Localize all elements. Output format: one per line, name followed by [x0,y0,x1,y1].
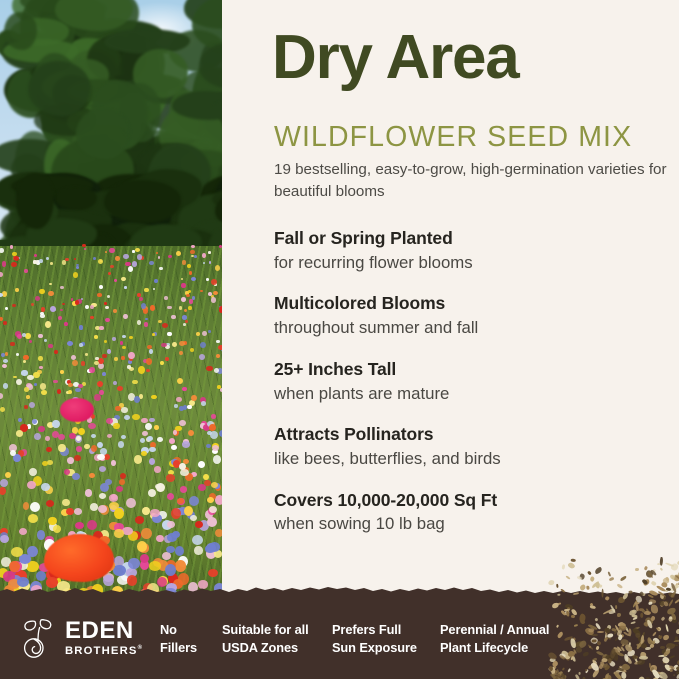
flower-bloom [113,423,119,430]
flower-bloom [194,546,202,555]
flower-bloom [214,368,219,373]
feature-subtext: when plants are mature [274,382,674,405]
flower-bloom [211,279,216,285]
feature-subtext: throughout summer and fall [274,316,674,339]
flower-bloom [76,266,79,269]
flower-bloom [104,302,107,304]
flower-bloom [120,341,124,345]
foliage-blob [76,108,130,159]
flower-bloom [121,435,126,439]
content-panel: Dry Area WILDFLOWER SEED MIX 19 bestsell… [222,0,679,614]
flower-bloom [28,514,38,523]
flower-bloom [192,296,195,299]
feature-heading: 25+ Inches Tall [274,358,674,381]
flower-bloom [147,345,152,349]
flower-bloom [72,473,80,480]
flower-bloom [160,361,164,365]
flower-bloom [3,321,7,325]
footer-content: EDEN BROTHERS® No Fillers Suitable for a… [0,595,679,679]
flower-bloom [144,288,149,293]
flower-bloom [156,483,165,492]
flower-bloom [89,367,94,373]
flower-bloom [94,361,99,365]
flower-bloom [99,326,103,330]
flower-bloom [126,498,136,508]
flower-bloom [17,334,22,339]
flower-bloom [64,469,70,475]
flower-bloom [113,309,117,312]
flower-bloom [149,261,154,265]
flower-bloom [159,267,163,271]
flower-bloom [50,262,53,265]
flower-bloom [75,522,84,529]
flower-bloom [58,434,64,440]
flower-bloom [195,521,203,528]
flower-bloom [166,474,175,482]
flower-bloom [179,463,186,470]
flower-bloom [121,356,124,360]
flower-bloom [179,306,182,309]
flower-bloom [23,502,30,510]
foliage-blob [4,12,37,50]
flower-bloom [216,340,219,343]
flower-bloom [115,406,120,411]
flower-bloom [105,251,107,253]
flower-bloom [45,321,51,328]
flower-bloom [123,314,128,319]
flower-bloom [88,423,96,429]
flower-bloom [142,507,149,515]
flower-bloom [99,493,106,499]
flower-bloom [76,446,83,452]
flower-bloom [114,508,124,519]
flower-bloom [11,547,23,557]
badge-sun-exposure: Prefers Full Sun Exposure [332,621,440,657]
flower-bloom [16,430,23,436]
feature-subtext: when sowing 10 lb bag [274,512,674,535]
flower-bloom [175,546,184,556]
foliage-blob [16,173,54,228]
flower-bloom [132,414,139,420]
flower-bloom [128,558,139,569]
flower-bloom [151,395,156,399]
flower-bloom [173,430,178,435]
flower-bloom [167,332,171,336]
product-subtitle: WILDFLOWER SEED MIX [274,123,632,152]
flower-bloom [97,454,104,460]
foreground-poppy [44,534,114,582]
flower-bloom [12,304,16,307]
flower-bloom [94,335,99,339]
flower-bloom [134,455,142,463]
feature-heading: Covers 10,000-20,000 Sq Ft [274,489,674,512]
feature-subtext: for recurring flower blooms [274,251,674,274]
flower-bloom [58,444,65,452]
flower-bloom [11,262,17,267]
flower-bloom [206,278,209,281]
flower-bloom [209,424,216,431]
flower-bloom [67,457,74,464]
tree-canopy [0,0,222,285]
flower-bloom [115,256,119,261]
flower-bloom [203,262,205,264]
flower-bloom [165,564,176,577]
flower-bloom [74,508,82,515]
flower-bloom [213,455,221,464]
flower-bloom [75,388,81,393]
flower-bloom [184,309,187,312]
flower-bloom [44,339,48,342]
flower-bloom [15,288,19,292]
flower-bloom [23,360,26,363]
flower-bloom [107,295,110,298]
flower-bloom [29,340,32,343]
flower-bloom [3,383,9,389]
flower-bloom [112,337,116,340]
flower-bloom [157,437,163,442]
flower-bloom [192,535,202,545]
flower-bloom [154,425,159,429]
flower-bloom [108,272,111,275]
flower-bloom [41,483,50,491]
flower-bloom [168,255,172,258]
flower-bloom [114,279,117,282]
flower-bloom [199,354,205,360]
flower-bloom [93,257,96,260]
flower-bloom [215,529,222,537]
flower-bloom [213,291,218,295]
flower-bloom [211,297,216,302]
flower-bloom [137,293,141,297]
flower-bloom [30,502,40,512]
flower-bloom [24,269,28,272]
badge-line1: No [160,622,177,637]
flower-bloom [149,458,155,465]
logo-eden-text: EDEN [65,619,143,643]
feature-heading: Attracts Pollinators [274,423,674,446]
flower-bloom [99,390,103,395]
flower-bloom [128,360,132,364]
flower-bloom [27,481,36,489]
flower-bloom [154,279,158,283]
flower-bloom [16,353,20,356]
flower-bloom [39,259,43,263]
flower-bloom [198,484,207,491]
flower-bloom [187,264,191,268]
flower-bloom [171,508,181,519]
flower-bloom [85,353,89,356]
flower-bloom [186,294,190,297]
flower-bloom [39,366,42,369]
flower-bloom [25,333,30,339]
flower-bloom [37,530,45,539]
badge-plant-lifecycle: Perennial / Annual Plant Lifecycle [440,621,580,657]
flower-bloom [128,266,133,272]
flower-bloom [182,387,186,391]
badge-line2: Sun Exposure [332,639,440,657]
flower-bloom [206,366,212,372]
flower-bloom [209,542,221,552]
flower-bloom [141,451,147,457]
flower-bloom [29,402,36,408]
flower-bloom [90,305,94,309]
flower-bloom [97,293,101,297]
flower-bloom [62,499,69,506]
flower-bloom [154,466,161,472]
flower-bloom [106,418,113,424]
flower-bloom [124,286,127,288]
flower-bloom [149,447,155,452]
flower-bloom [2,261,7,266]
flower-bloom [132,261,137,266]
flower-bloom [102,372,106,376]
flower-bloom [41,390,47,395]
flower-bloom [140,438,145,443]
badge-line1: Suitable for all [222,622,309,637]
feature-item: Covers 10,000-20,000 Sq Ft when sowing 1… [274,489,674,536]
flower-bloom [29,468,37,477]
flower-bloom [132,380,137,384]
flower-bloom [73,272,78,278]
flower-bloom [85,489,93,497]
flower-bloom [114,529,123,537]
flower-bloom [137,254,143,260]
wildflower-meadow-photo [0,0,222,614]
flower-bloom [79,325,84,330]
flower-bloom [215,265,220,271]
flower-bloom [143,308,148,313]
badge-usda-zones: Suitable for all USDA Zones [222,621,332,657]
flower-bloom [104,340,107,343]
flower-bloom [85,305,89,309]
flower-bloom [123,254,128,259]
flower-bloom [109,494,118,502]
flower-bloom [164,296,168,300]
page-title: Dry Area [272,27,519,89]
flower-bloom [24,405,28,408]
flower-bloom [208,251,211,254]
flower-bloom [121,407,128,412]
flower-bloom [14,256,19,261]
flower-bloom [185,320,188,323]
badge-line2: USDA Zones [222,639,332,657]
flower-bloom [149,418,155,423]
flower-bloom [167,493,174,499]
badge-line1: Prefers Full [332,622,401,637]
flower-bloom [118,441,124,447]
flower-bloom [38,426,45,433]
flower-bloom [146,358,152,365]
flower-bloom [33,372,40,379]
flower-bloom [34,433,41,440]
product-marketing-image: Dry Area WILDFLOWER SEED MIX 19 bestsell… [0,0,679,679]
flower-bloom [181,283,185,287]
flower-bloom [172,531,180,538]
footer-bar: EDEN BROTHERS® No Fillers Suitable for a… [0,595,679,679]
feature-heading: Fall or Spring Planted [274,227,674,250]
flower-bloom [162,323,168,328]
flower-bloom [100,483,109,492]
logo-wordmark: EDEN BROTHERS® [65,619,143,657]
flower-bloom [2,364,7,368]
flower-bloom [188,306,192,309]
flower-bloom [68,383,73,387]
flower-bloom [48,517,56,526]
flower-bloom [142,431,148,437]
flower-bloom [114,357,119,361]
flower-bloom [99,285,103,289]
flower-bloom [201,401,206,405]
registered-trademark-icon: ® [138,645,144,651]
flower-bloom [46,257,49,260]
flower-bloom [57,389,61,393]
footer-badges: No Fillers Suitable for all USDA Zones P… [160,621,580,657]
flower-bloom [90,503,98,510]
flower-bloom [38,356,43,360]
eden-brothers-logo[interactable]: EDEN BROTHERS® [18,617,143,659]
flower-bloom [102,354,107,359]
foliage-blob [28,61,90,117]
flower-bloom [74,258,77,260]
badge-no-fillers: No Fillers [160,621,222,657]
flower-bloom [135,516,144,524]
flower-bloom [76,436,81,441]
flower-bloom [145,423,152,430]
flower-bloom [19,528,27,535]
flower-bloom [109,248,114,254]
feature-subtext: like bees, butterflies, and birds [274,447,674,470]
flower-bloom [190,515,197,522]
flower-bloom [167,521,174,527]
flower-bloom [203,474,209,480]
flower-bloom [3,359,8,363]
flower-bloom [208,330,211,333]
flower-bloom [9,561,20,573]
flower-bloom [189,496,199,506]
flower-bloom [134,396,140,403]
sprout-seed-icon [18,617,58,659]
flower-bloom [122,527,132,535]
flower-bloom [66,508,74,515]
flower-bloom [69,433,75,439]
flower-bloom [191,395,196,401]
flower-bloom [94,394,101,401]
flower-bloom [194,255,197,258]
foreground-poppy [60,398,94,422]
foliage-blob [104,180,181,223]
flower-bloom [95,357,98,360]
flower-bloom [175,560,187,572]
flower-bloom [165,357,169,361]
flower-bloom [138,366,145,373]
badge-line2: Plant Lifecycle [440,639,580,657]
foliage-blob [55,187,98,210]
flower-bloom [47,460,53,465]
feature-item: 25+ Inches Tall when plants are mature [274,358,674,405]
flower-bloom [48,344,52,348]
flower-bloom [62,303,65,306]
flower-bloom [182,260,186,264]
flower-bloom [64,322,67,326]
flower-bloom [10,342,14,347]
feature-item: Attracts Pollinators like bees, butterfl… [274,423,674,470]
feature-item: Multicolored Blooms throughout summer an… [274,292,674,339]
flower-bloom [150,305,155,310]
flower-bloom [129,336,133,339]
flower-bloom [158,256,160,259]
logo-brothers-text: BROTHERS® [65,645,143,657]
flower-bloom [167,306,171,310]
flower-bloom [183,323,186,326]
flower-bloom [21,370,27,375]
feature-item: Fall or Spring Planted for recurring flo… [274,227,674,274]
flower-bloom [110,265,114,268]
wildflower-meadow [0,246,222,614]
feature-list: Fall or Spring Planted for recurring flo… [274,227,674,536]
flower-bloom [0,487,6,495]
flower-bloom [207,497,214,503]
flower-bloom [137,541,147,552]
badge-line1: Perennial / Annual [440,622,549,637]
flower-bloom [52,431,60,438]
feature-heading: Multicolored Blooms [274,292,674,315]
flower-bloom [24,387,29,392]
flower-bloom [149,561,161,571]
flower-bloom [132,250,135,252]
flower-bloom [39,289,45,295]
flower-bloom [182,315,187,319]
logo-brothers-label: BROTHERS [65,645,138,657]
flower-bloom [182,441,190,447]
flower-bloom [79,343,83,347]
flower-bloom [26,395,30,399]
flower-bloom [107,434,112,438]
badge-line2: Fillers [160,639,222,657]
flower-bloom [48,291,54,297]
product-tagline: 19 bestselling, easy-to-grow, high-germi… [274,159,674,203]
